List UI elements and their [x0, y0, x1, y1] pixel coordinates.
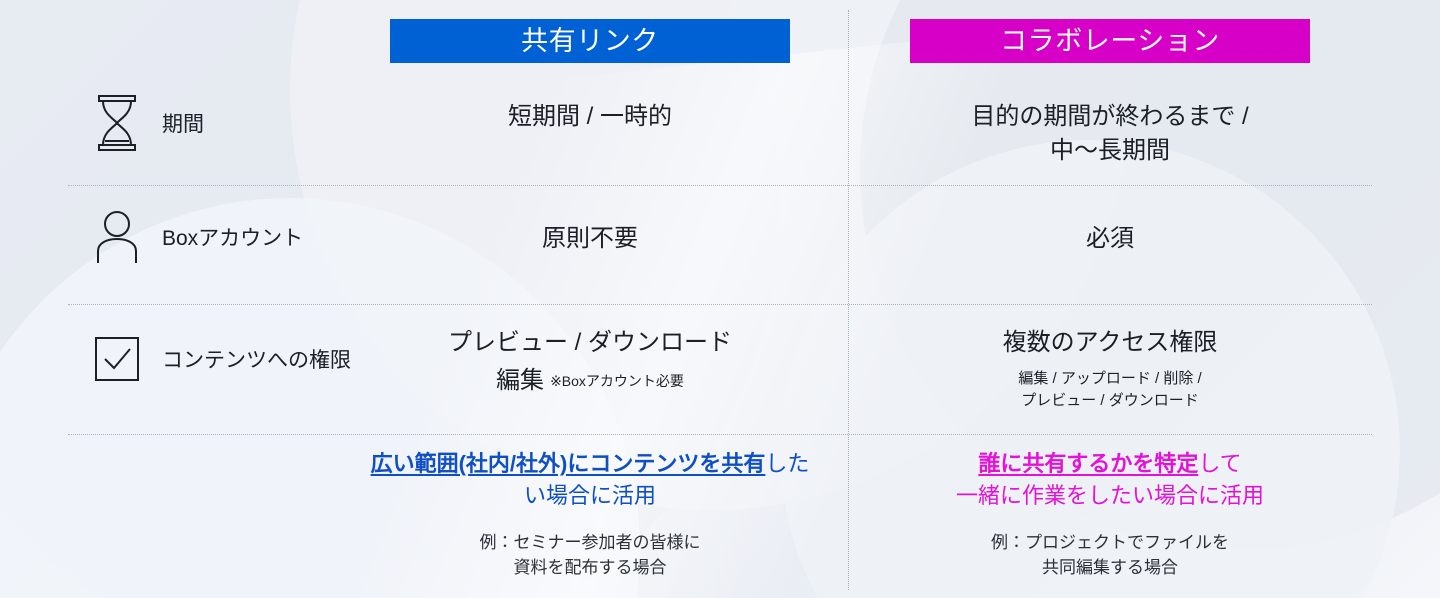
header-share-link: 共有リンク	[390, 19, 790, 63]
header-collaboration: コラボレーション	[910, 19, 1310, 63]
row-label-duration-text: 期間	[162, 108, 204, 138]
row-label-content-permissions-text: コンテンツへの権限	[162, 344, 351, 374]
summary-share-example: 例：セミナー参加者の皆様に資料を配布する場合	[370, 530, 810, 581]
cell-collab-duration: 目的の期間が終わるまで /中〜長期間	[890, 100, 1330, 167]
comparison-table: 共有リンク コラボレーション 期間 短期間 / 一時的 目的の期間が終わるまで …	[0, 0, 1440, 598]
cell-collab-permissions: 複数のアクセス権限 編集 / アップロード / 削除 /プレビュー / ダウンロ…	[890, 326, 1330, 413]
summary-collab-lead: 誰に共有するかを特定して一緒に作業をしたい場合に活用	[890, 448, 1330, 512]
row-divider-3	[68, 434, 1372, 435]
cell-collab-permissions-primary: 複数のアクセス権限	[890, 326, 1330, 360]
column-divider	[848, 10, 849, 590]
cell-share-duration-text: 短期間 / 一時的	[370, 100, 810, 134]
cell-share-permissions-secondary: 編集※Boxアカウント必要	[370, 364, 810, 399]
cell-share-duration: 短期間 / 一時的	[370, 100, 810, 134]
cell-collab-permissions-sub: 編集 / アップロード / 削除 /プレビュー / ダウンロード	[890, 368, 1330, 413]
row-label-duration: 期間	[90, 92, 204, 154]
comparison-slide: 共有リンク コラボレーション 期間 短期間 / 一時的 目的の期間が終わるまで …	[0, 0, 1440, 598]
person-icon	[90, 206, 144, 268]
summary-collaboration: 誰に共有するかを特定して一緒に作業をしたい場合に活用 例：プロジェクトでファイル…	[890, 448, 1330, 581]
cell-share-box-account: 原則不要	[370, 222, 810, 256]
summary-share-lead: 広い範囲(社内/社外)にコンテンツを共有したい場合に活用	[370, 448, 810, 512]
cell-share-permissions-primary: プレビュー / ダウンロード	[370, 326, 810, 360]
cell-collab-box-account: 必須	[890, 222, 1330, 256]
summary-share-emphasis: 広い範囲(社内/社外)にコンテンツを共有	[371, 451, 766, 476]
checkbox-check-icon	[90, 328, 144, 390]
summary-share-link: 広い範囲(社内/社外)にコンテンツを共有したい場合に活用 例：セミナー参加者の皆…	[370, 448, 810, 581]
hourglass-icon	[90, 92, 144, 154]
cell-collab-duration-text: 目的の期間が終わるまで /中〜長期間	[890, 100, 1330, 167]
cell-share-permissions-note: ※Boxアカウント必要	[550, 373, 684, 389]
row-divider-2	[68, 304, 1372, 305]
row-label-content-permissions: コンテンツへの権限	[90, 328, 351, 390]
summary-collab-example: 例：プロジェクトでファイルを共同編集する場合	[890, 530, 1330, 581]
summary-collab-emphasis: 誰に共有するかを特定	[978, 451, 1198, 476]
cell-share-permissions: プレビュー / ダウンロード 編集※Boxアカウント必要	[370, 326, 810, 398]
cell-share-permissions-edit: 編集	[496, 367, 544, 394]
row-label-box-account-text: Boxアカウント	[162, 222, 303, 252]
row-divider-1	[68, 185, 1372, 186]
row-label-box-account: Boxアカウント	[90, 206, 303, 268]
cell-collab-box-account-text: 必須	[890, 222, 1330, 256]
cell-share-box-account-text: 原則不要	[370, 222, 810, 256]
